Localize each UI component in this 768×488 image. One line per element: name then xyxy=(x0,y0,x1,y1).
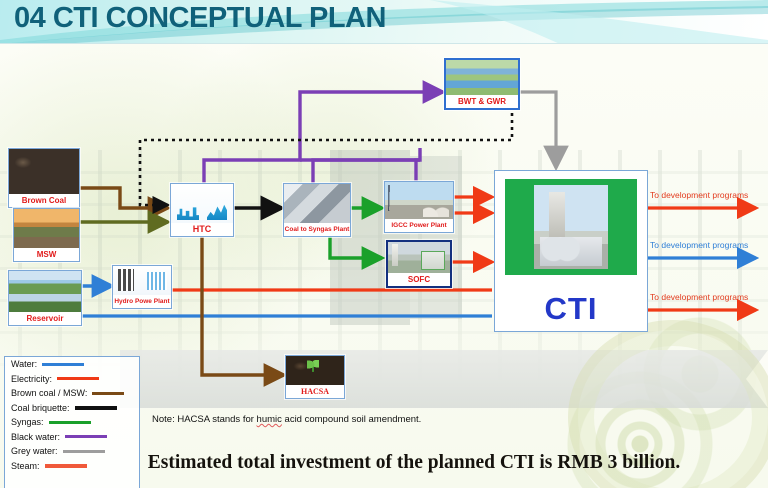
legend-item: Black water: xyxy=(5,430,139,445)
msw-image xyxy=(14,209,79,248)
legend-item: Brown coal / MSW: xyxy=(5,386,139,401)
cti-green-panel xyxy=(505,179,637,275)
node-label: Brown Coal xyxy=(9,194,79,207)
legend-swatch-water xyxy=(42,363,84,366)
htc-image xyxy=(171,184,233,223)
output-label-3: To development programs xyxy=(650,292,748,302)
legend-swatch-syngas xyxy=(49,421,91,424)
legend-label: Water: xyxy=(11,359,37,369)
cti-plant-image xyxy=(534,185,608,269)
node-label: SOFC xyxy=(388,273,450,286)
bwt-gwr-image xyxy=(446,60,518,95)
legend-swatch-coal-briquette xyxy=(75,406,117,410)
legend-swatch-electricity xyxy=(57,377,99,380)
legend-swatch-brown-coal xyxy=(92,392,124,395)
note-suffix: acid compound soil amendment. xyxy=(282,414,421,425)
node-label: Reservoir xyxy=(9,312,81,325)
legend-label: Coal briquette: xyxy=(11,403,70,413)
igcc-image xyxy=(385,182,453,219)
slide-canvas: 04 CTI CONCEPTUAL PLAN xyxy=(0,0,768,488)
node-label: Hydro Powe Plant xyxy=(113,295,171,308)
reservoir-image xyxy=(9,271,81,312)
hacsa-image xyxy=(286,356,344,385)
node-msw[interactable]: MSW xyxy=(13,208,80,262)
output-label-1: To development programs xyxy=(650,190,748,200)
node-hacsa[interactable]: HACSA xyxy=(285,355,345,399)
node-brown-coal[interactable]: Brown Coal xyxy=(8,148,80,208)
node-label: MSW xyxy=(14,248,79,261)
cti-label: CTI xyxy=(495,291,647,327)
note-text: Note: HACSA stands for humic acid compou… xyxy=(152,414,421,425)
note-underlined-word: humic xyxy=(257,414,282,425)
legend-label: Black water: xyxy=(11,432,60,442)
node-sofc[interactable]: SOFC xyxy=(386,240,452,288)
legend-label: Syngas: xyxy=(11,417,44,427)
legend-item: Electricity: xyxy=(5,372,139,387)
hydro-image xyxy=(113,266,171,295)
investment-headline: Estimated total investment of the planne… xyxy=(0,452,768,474)
node-label: HTC xyxy=(171,223,233,236)
sofc-image xyxy=(388,242,450,273)
syngas-plant-image xyxy=(284,184,350,223)
legend-swatch-black-water xyxy=(65,435,107,438)
node-bwt-gwr[interactable]: BWT & GWR xyxy=(444,58,520,110)
legend-item: Coal briquette: xyxy=(5,401,139,416)
brown-coal-image xyxy=(9,149,79,194)
legend-item: Water: xyxy=(5,357,139,372)
node-label: BWT & GWR xyxy=(446,95,518,108)
node-hydro-power-plant[interactable]: Hydro Powe Plant xyxy=(112,265,172,309)
legend-item: Syngas: xyxy=(5,415,139,430)
legend-label: Electricity: xyxy=(11,374,52,384)
node-cti[interactable]: CTI xyxy=(494,170,648,332)
node-label: IGCC Power Plant xyxy=(385,219,453,232)
note-prefix: Note: HACSA stands for xyxy=(152,414,257,425)
legend-label: Brown coal / MSW: xyxy=(11,388,87,398)
node-reservoir[interactable]: Reservoir xyxy=(8,270,82,326)
node-label: HACSA xyxy=(286,385,344,398)
node-coal-to-syngas-plant[interactable]: Coal to Syngas Plant xyxy=(283,183,351,237)
output-label-2: To development programs xyxy=(650,240,748,250)
node-label: Coal to Syngas Plant xyxy=(284,223,350,236)
node-htc[interactable]: HTC xyxy=(170,183,234,237)
node-igcc-power-plant[interactable]: IGCC Power Plant xyxy=(384,181,454,233)
